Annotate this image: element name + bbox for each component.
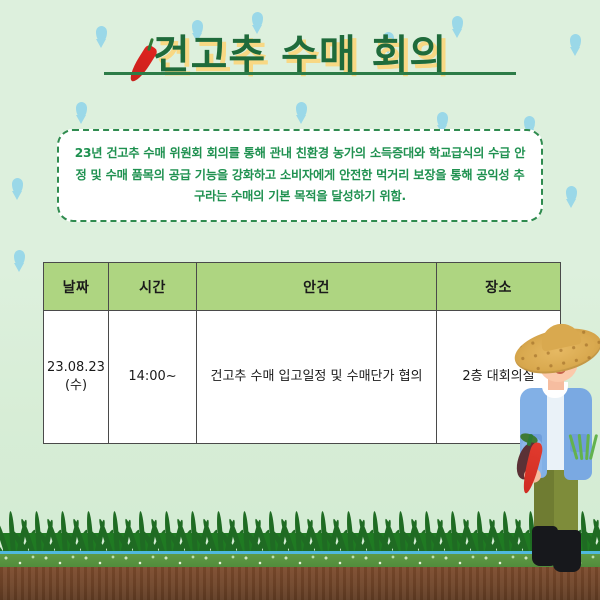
- table-body: 23.08.23 (수) 14:00~ 건고추 수매 입고일정 및 수매단가 협…: [44, 311, 561, 444]
- column-header-date: 날짜: [44, 263, 109, 311]
- table-header: 날짜 시간 안건 장소: [44, 263, 561, 311]
- title-underline: [104, 72, 516, 75]
- scallion-icon: [572, 434, 598, 464]
- cell-time: 14:00~: [109, 311, 197, 444]
- water-droplet-icon: [14, 250, 25, 266]
- poster-canvas: 건고추 수매 회의 23년 건고추 수매 위원회 회의를 통해 관내 친환경 농…: [0, 0, 600, 600]
- purpose-note-text: 23년 건고추 수매 위원회 회의를 통해 관내 친환경 농가의 소득증대와 학…: [73, 143, 527, 207]
- water-droplet-icon: [76, 102, 87, 118]
- chili-pepper-icon: [128, 36, 168, 84]
- table-row: 23.08.23 (수) 14:00~ 건고추 수매 입고일정 및 수매단가 협…: [44, 311, 561, 444]
- scallion-leaf: [589, 434, 598, 460]
- schedule-table: 날짜 시간 안건 장소 23.08.23 (수) 14:00~ 건고추 수매 입…: [43, 262, 561, 444]
- cell-date: 23.08.23 (수): [44, 311, 109, 444]
- farmer-character-illustration: [498, 330, 600, 590]
- column-header-place: 장소: [437, 263, 561, 311]
- water-droplet-icon: [296, 102, 307, 118]
- water-droplet-icon: [437, 112, 448, 128]
- column-header-agenda: 안건: [197, 263, 437, 311]
- table-header-row: 날짜 시간 안건 장소: [44, 263, 561, 311]
- water-droplet-icon: [252, 12, 263, 28]
- scallion-leaf: [578, 434, 584, 460]
- cell-agenda: 건고추 수매 입고일정 및 수매단가 협의: [197, 311, 437, 444]
- purpose-note-box: 23년 건고추 수매 위원회 회의를 통해 관내 친환경 농가의 소득증대와 학…: [57, 129, 543, 222]
- cell-date-line2: (수): [45, 377, 107, 395]
- farmer-boot-front: [553, 530, 581, 572]
- chili-body: [126, 44, 158, 85]
- column-header-time: 시간: [109, 263, 197, 311]
- cell-date-line1: 23.08.23: [45, 359, 107, 377]
- water-droplet-icon: [12, 178, 23, 194]
- water-droplet-icon: [566, 186, 577, 202]
